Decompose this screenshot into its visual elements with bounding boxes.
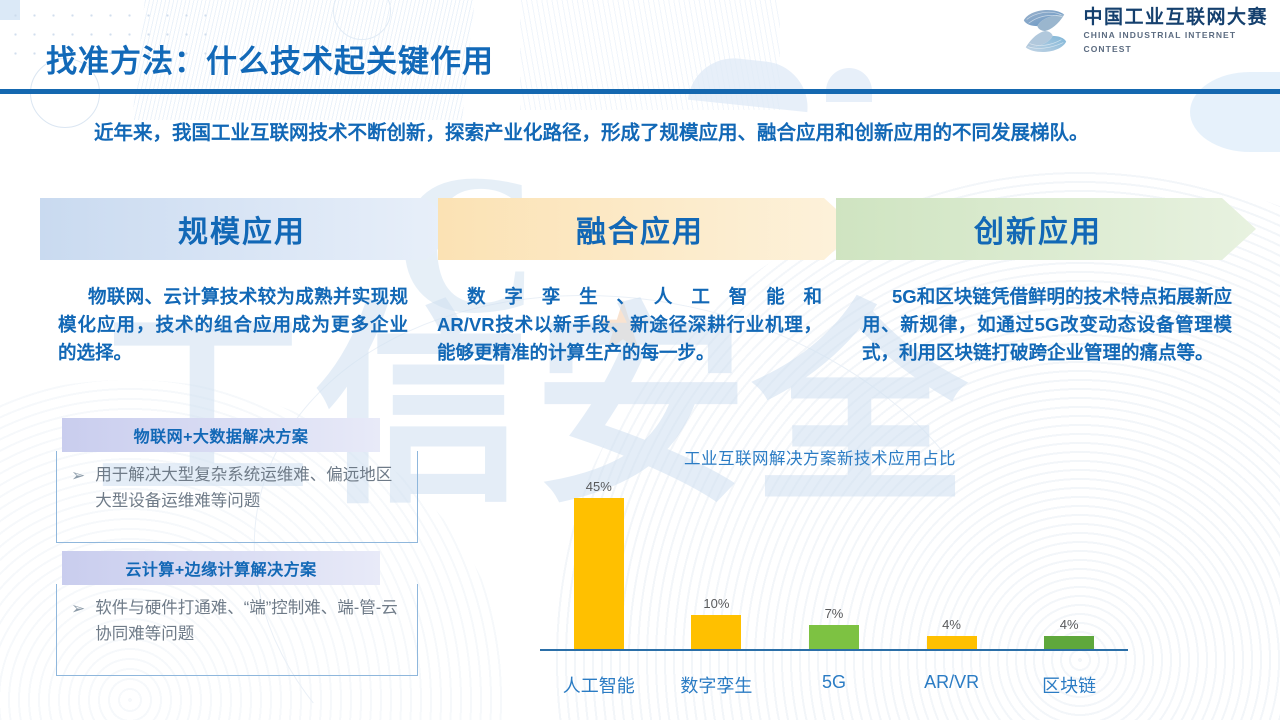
chart-bar-value-label: 7% — [825, 606, 844, 621]
logo-title-en-2: CONTEST — [1083, 44, 1268, 55]
chart-x-label: AR/VR — [893, 672, 1011, 698]
chart-bars: 45%10%7%4%4% — [540, 473, 1128, 649]
solution-box-header-1: 物联网+大数据解决方案 — [62, 418, 380, 452]
chart-bar — [809, 625, 859, 649]
column-text-fusion-line2: AR/VR技术以新手段、新途径深耕行业机理，能够更精准的计算生产的每一步。 — [437, 311, 822, 367]
chart-x-label: 5G — [775, 672, 893, 698]
logo-title-cn: 中国工业互联网大赛 — [1083, 7, 1268, 29]
chevron-label-3: 创新应用 — [974, 207, 1102, 251]
chevron-fusion-application: 融合应用 — [438, 198, 858, 260]
chevron-label-2: 融合应用 — [576, 207, 704, 251]
solution-box-iot: 物联网+大数据解决方案 ➢ 用于解决大型复杂系统运维难、偏远地区大型设备运维难等… — [56, 418, 418, 543]
chart-x-label: 区块链 — [1010, 672, 1128, 698]
chart-bar-group: 45% — [540, 473, 658, 649]
solution-box-body-1: ➢ 用于解决大型复杂系统运维难、偏远地区大型设备运维难等问题 — [56, 451, 418, 543]
list-item: ➢ 用于解决大型复杂系统运维难、偏远地区大型设备运维难等问题 — [71, 463, 403, 514]
chart-bar-value-label: 4% — [942, 617, 961, 632]
dot-marker — [0, 0, 20, 20]
chart-bar — [574, 498, 624, 649]
chart-bar-group: 4% — [1010, 473, 1128, 649]
logo-swirl-icon — [1016, 5, 1074, 57]
chart-bar-group: 10% — [658, 473, 776, 649]
logo-title-en-1: CHINA INDUSTRIAL INTERNET — [1083, 30, 1268, 41]
circle-outline-2 — [333, 0, 391, 40]
solution-box-bullet-1: 用于解决大型复杂系统运维难、偏远地区大型设备运维难等问题 — [95, 463, 403, 514]
blue-blob-1 — [688, 54, 812, 112]
intro-paragraph: 近年来，我国工业互联网技术不断创新，探索产业化路径，形成了规模应用、融合应用和创… — [62, 119, 1212, 148]
column-text-fusion-line1: 数字孪生、人工智能和 — [437, 283, 822, 311]
chevron-innovation-application: 创新应用 — [836, 198, 1256, 260]
blue-blob-2 — [826, 68, 872, 102]
chart-x-axis — [540, 649, 1128, 651]
arrow-bullet-icon: ➢ — [71, 463, 85, 489]
chart-plot-area: 45%10%7%4%4% — [528, 473, 1128, 651]
chart-bar — [927, 636, 977, 649]
header-divider — [0, 89, 1280, 94]
chart-bar-value-label: 45% — [586, 479, 612, 494]
solution-box-body-2: ➢ 软件与硬件打通难、“端”控制难、端-管-云协同难等问题 — [56, 584, 418, 676]
solution-box-header-2: 云计算+边缘计算解决方案 — [62, 551, 380, 585]
chart-title: 工业互联网解决方案新技术应用占比 — [500, 445, 1140, 469]
chevron-label-1: 规模应用 — [178, 207, 306, 251]
bar-chart: 工业互联网解决方案新技术应用占比 45%10%7%4%4% 人工智能数字孪生5G… — [500, 445, 1140, 700]
chart-bar-value-label: 4% — [1060, 617, 1079, 632]
chart-bar — [1044, 636, 1094, 649]
chevron-scale-application: 规模应用 — [40, 198, 460, 260]
chart-bar-group: 4% — [893, 473, 1011, 649]
chevron-banner-row: 规模应用 融合应用 创新应用 — [40, 198, 1255, 260]
column-text-innovation: 5G和区块链凭借鲜明的技术特点拓展新应用、新规律，如通过5G改变动态设备管理模式… — [862, 283, 1232, 367]
chart-bar — [691, 615, 741, 649]
solution-box-cloud: 云计算+边缘计算解决方案 ➢ 软件与硬件打通难、“端”控制难、端-管-云协同难等… — [56, 551, 418, 676]
arrow-bullet-icon: ➢ — [71, 596, 85, 622]
chart-x-label: 数字孪生 — [658, 672, 776, 698]
brand-logo: 中国工业互联网大赛 CHINA INDUSTRIAL INTERNET CONT… — [1016, 5, 1268, 57]
list-item: ➢ 软件与硬件打通难、“端”控制难、端-管-云协同难等问题 — [71, 596, 403, 647]
chart-x-tick-labels: 人工智能数字孪生5GAR/VR区块链 — [540, 672, 1128, 698]
column-text-fusion: 数字孪生、人工智能和 AR/VR技术以新手段、新途径深耕行业机理，能够更精准的计… — [437, 283, 822, 367]
slide-root: C 工信安全 找准方法：什么技术起关键作用 — [0, 0, 1280, 720]
chart-bar-value-label: 10% — [703, 596, 729, 611]
logo-text-block: 中国工业互联网大赛 CHINA INDUSTRIAL INTERNET CONT… — [1083, 7, 1268, 56]
page-title: 找准方法：什么技术起关键作用 — [46, 36, 494, 81]
chart-x-label: 人工智能 — [540, 672, 658, 698]
column-text-scale: 物联网、云计算技术较为成熟并实现规模化应用，技术的组合应用成为更多企业的选择。 — [58, 283, 408, 367]
solution-box-bullet-2: 软件与硬件打通难、“端”控制难、端-管-云协同难等问题 — [95, 596, 403, 647]
chart-bar-group: 7% — [775, 473, 893, 649]
solution-box-list: 物联网+大数据解决方案 ➢ 用于解决大型复杂系统运维难、偏远地区大型设备运维难等… — [56, 418, 418, 684]
